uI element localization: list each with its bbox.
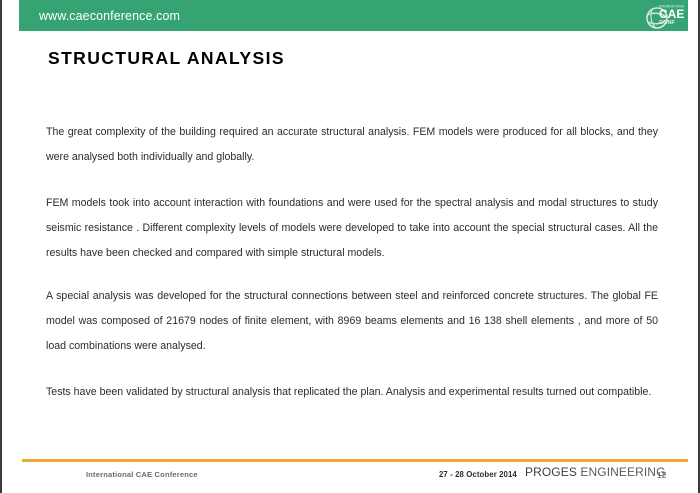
cae-conference-logo-icon: CAE INTERNATIONAL CONF: [644, 1, 684, 30]
footer-date: 27 - 28 October 2014: [439, 470, 517, 479]
header-website-url: www.caeconference.com: [39, 9, 180, 23]
footer-brand-primary: PROGES: [525, 465, 577, 479]
svg-text:CONF: CONF: [659, 20, 675, 26]
slide-body: The great complexity of the building req…: [46, 120, 658, 405]
body-paragraph: Tests have been validated by structural …: [46, 380, 658, 405]
slide: www.caeconference.com CAE INTERNATIONAL …: [0, 0, 700, 493]
page-title: STRUCTURAL ANALYSIS: [48, 48, 285, 69]
svg-text:INTERNATIONAL: INTERNATIONAL: [659, 5, 684, 9]
footer-page-number: 12: [657, 470, 666, 480]
header-band: www.caeconference.com CAE INTERNATIONAL …: [19, 0, 688, 31]
body-paragraph: The great complexity of the building req…: [46, 120, 658, 170]
footer-brand: PROGES ENGINEERING: [525, 465, 666, 479]
body-paragraph: A special analysis was developed for the…: [46, 284, 658, 359]
body-paragraph: FEM models took into account interaction…: [46, 191, 658, 266]
footer-divider: [22, 459, 688, 462]
footer-conference-name: International CAE Conference: [86, 470, 198, 479]
svg-text:CAE: CAE: [659, 7, 684, 21]
footer-brand-secondary: ENGINEERING: [577, 465, 666, 479]
